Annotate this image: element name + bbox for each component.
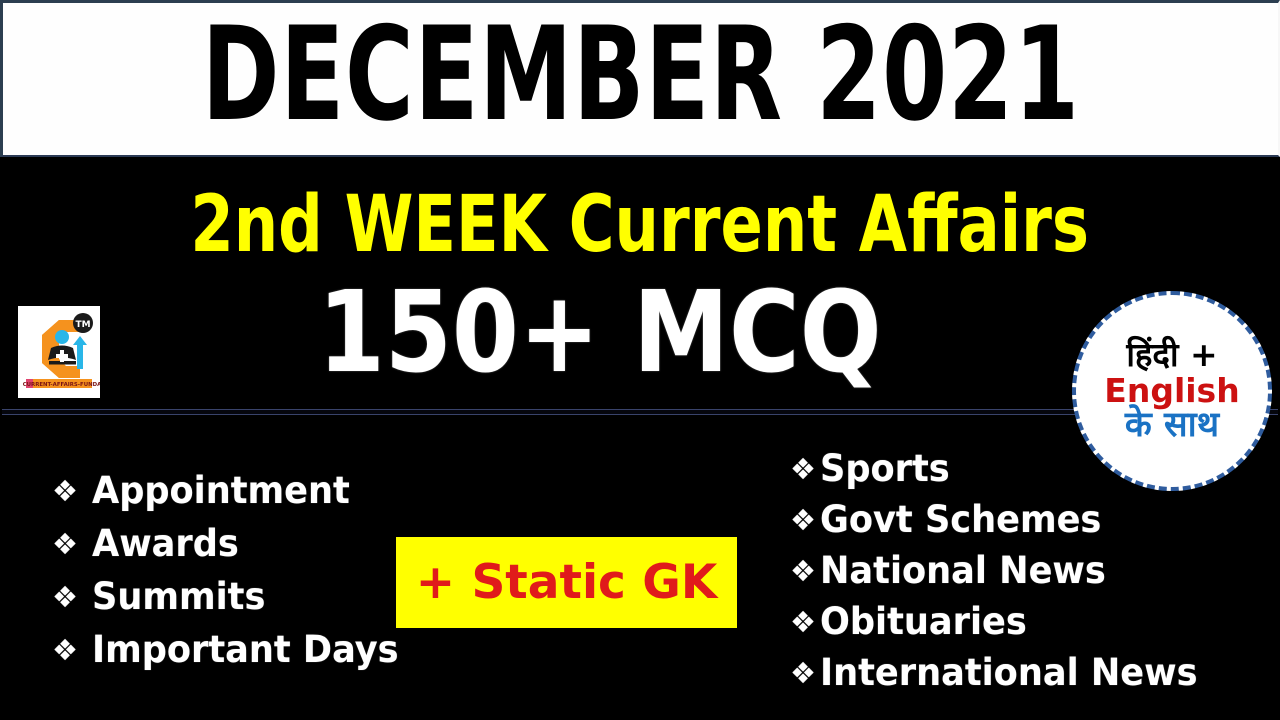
topic-label: Important Days (92, 631, 399, 668)
topic-label: International News (820, 654, 1198, 691)
list-item: ❖ Important Days (52, 631, 415, 668)
topics-list-left: ❖ Appointment ❖ Awards ❖ Summits ❖ Impor… (52, 472, 415, 684)
mcq-headline: 150+ MCQ (150, 277, 1050, 389)
topic-label: Awards (92, 525, 239, 562)
static-gk-badge: + Static GK (396, 537, 737, 628)
list-item: ❖ International News (790, 654, 1217, 691)
list-item: ❖ Summits (52, 578, 415, 615)
header-band: DECEMBER 2021 (0, 0, 1280, 157)
language-badge-line-hindi: हिंदी + (1126, 338, 1217, 372)
poster-canvas: DECEMBER 2021 2nd WEEK Current Affairs 1… (0, 0, 1280, 720)
list-item: ❖ Awards (52, 525, 415, 562)
week-headline-text: 2nd WEEK Current Affairs (191, 186, 1090, 264)
week-headline: 2nd WEEK Current Affairs (0, 186, 1280, 264)
diamond-bullet-icon: ❖ (790, 506, 816, 535)
topic-label: Sports (820, 450, 950, 487)
topic-label: Govt Schemes (820, 501, 1101, 538)
diamond-bullet-icon: ❖ (790, 455, 816, 484)
list-item: ❖ Sports (790, 450, 1217, 487)
language-badge-line-english: English (1104, 374, 1239, 408)
topic-label: National News (820, 552, 1106, 589)
list-item: ❖ Obituaries (790, 603, 1217, 640)
topic-label: Appointment (92, 472, 350, 509)
diamond-bullet-icon: ❖ (52, 583, 78, 612)
list-item: ❖ National News (790, 552, 1217, 589)
diamond-bullet-icon: ❖ (52, 636, 78, 665)
mcq-headline-text: 150+ MCQ (318, 277, 882, 389)
diamond-bullet-icon: ❖ (52, 530, 78, 559)
diamond-bullet-icon: ❖ (790, 557, 816, 586)
brand-logo-text: CURRENT-AFFAIRS-FUNDA (23, 382, 100, 388)
brand-logo: TM CURRENT-AFFAIRS-FUNDA (18, 306, 100, 398)
diamond-bullet-icon: ❖ (790, 659, 816, 688)
diamond-bullet-icon: ❖ (790, 608, 816, 637)
static-gk-label: + Static GK (416, 559, 718, 606)
list-item: ❖ Appointment (52, 472, 415, 509)
page-title: DECEMBER 2021 (201, 11, 1079, 147)
brand-logo-icon: TM CURRENT-AFFAIRS-FUNDA (18, 306, 100, 398)
topics-list-right: ❖ Sports ❖ Govt Schemes ❖ National News … (790, 450, 1217, 705)
list-item: ❖ Govt Schemes (790, 501, 1217, 538)
topic-label: Obituaries (820, 603, 1027, 640)
diamond-bullet-icon: ❖ (52, 477, 78, 506)
topic-label: Summits (92, 578, 265, 615)
svg-text:TM: TM (75, 320, 90, 330)
language-badge-line-sath: के साथ (1125, 408, 1219, 444)
